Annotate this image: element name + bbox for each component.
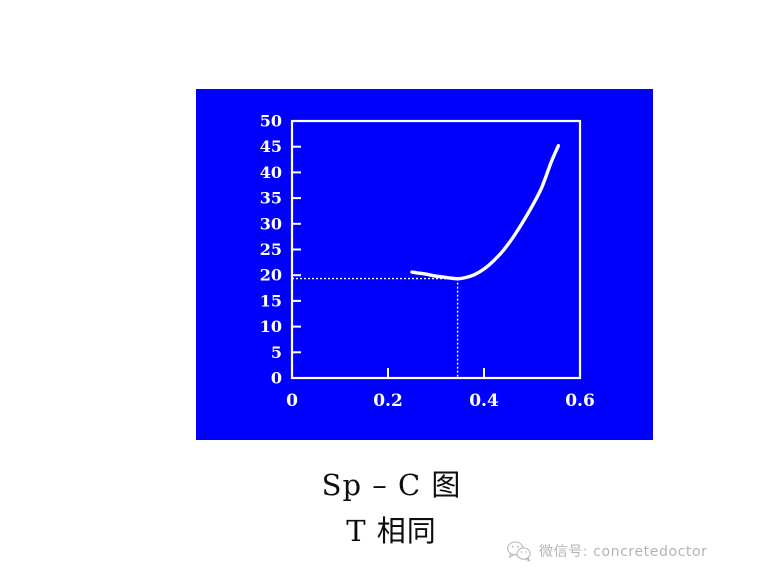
chart-svg: 05101520253035404550 00.20.40.6 [196,89,653,440]
data-curve [412,146,558,279]
y-tick-label: 20 [260,266,282,285]
plot-frame [292,121,580,378]
y-tick-label: 25 [260,240,282,259]
y-tick-label: 10 [260,317,282,336]
caption-line-title: Sp – C 图 [0,462,783,508]
wechat-watermark: 微信号: concretedoctor [506,540,708,562]
y-tick-label: 15 [260,291,282,310]
y-tick-label: 0 [271,369,282,388]
x-tick-label: 0.2 [373,391,403,411]
y-tick-label: 30 [260,214,282,233]
y-axis-ticks [292,121,301,378]
wechat-icon [506,540,532,562]
wechat-watermark-text: 微信号: concretedoctor [539,541,708,561]
x-tick-label: 0.6 [565,391,595,411]
minimum-guide-lines [292,279,458,378]
y-tick-label: 45 [260,137,282,156]
y-tick-label: 50 [260,112,282,131]
y-tick-label: 35 [260,189,282,208]
x-axis-ticks [388,368,484,378]
x-tick-label: 0.4 [469,391,499,411]
plot-border [292,121,580,378]
y-axis-tick-labels: 05101520253035404550 [260,112,282,388]
y-tick-label: 5 [271,343,282,362]
y-tick-label: 40 [260,163,282,182]
x-axis-tick-labels: 00.20.40.6 [286,391,595,411]
chart-panel: 05101520253035404550 00.20.40.6 [196,89,653,440]
x-tick-label: 0 [286,391,298,411]
